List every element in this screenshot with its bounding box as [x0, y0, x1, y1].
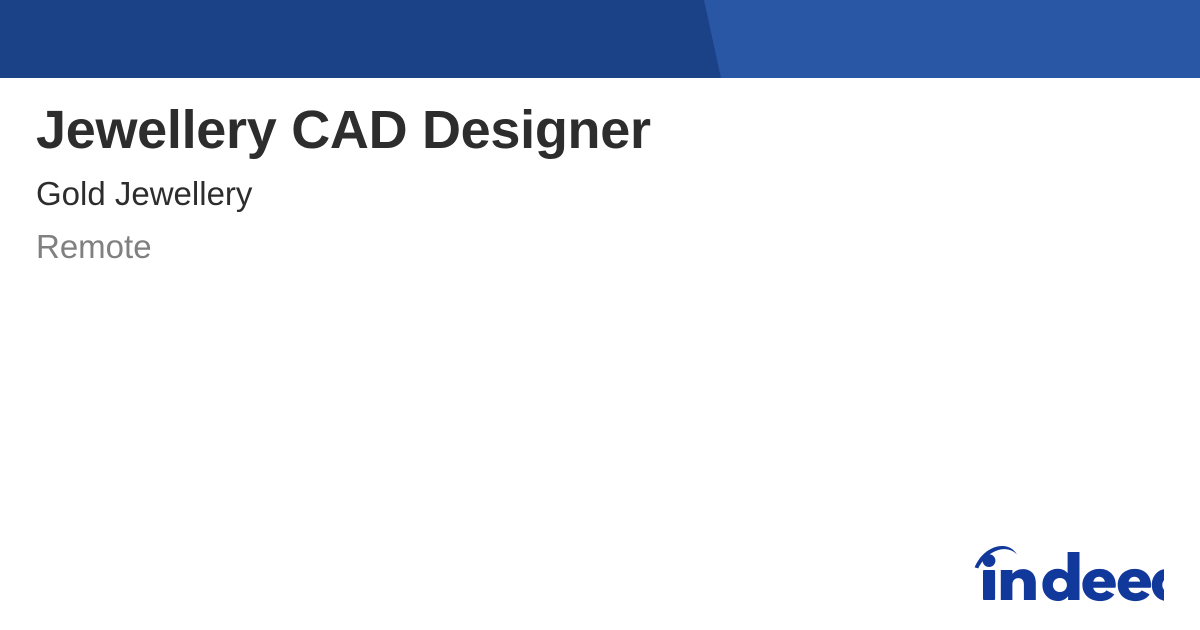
- letter-d-first: [1042, 552, 1079, 601]
- banner-shape: [0, 0, 1200, 78]
- letter-n: [1001, 569, 1036, 600]
- job-info-block: Jewellery CAD Designer Gold Jewellery Re…: [36, 78, 1136, 267]
- indeed-logo-icon: [972, 544, 1164, 602]
- swoosh-shape: [975, 546, 1017, 568]
- banner-dark-blue-region: [0, 0, 721, 78]
- letter-i-dot: [983, 554, 996, 567]
- letter-i-stem: [983, 570, 995, 600]
- job-location: Remote: [36, 214, 1136, 267]
- top-banner: [0, 0, 1200, 78]
- job-posting-card: Jewellery CAD Designer Gold Jewellery Re…: [0, 0, 1200, 630]
- letter-e-second: [1118, 569, 1151, 601]
- page-title: Jewellery CAD Designer: [36, 78, 1136, 159]
- letter-d-last: [1152, 552, 1164, 601]
- indeed-logo: [972, 544, 1164, 602]
- company-name: Gold Jewellery: [36, 159, 1136, 214]
- letter-e-first: [1082, 569, 1115, 601]
